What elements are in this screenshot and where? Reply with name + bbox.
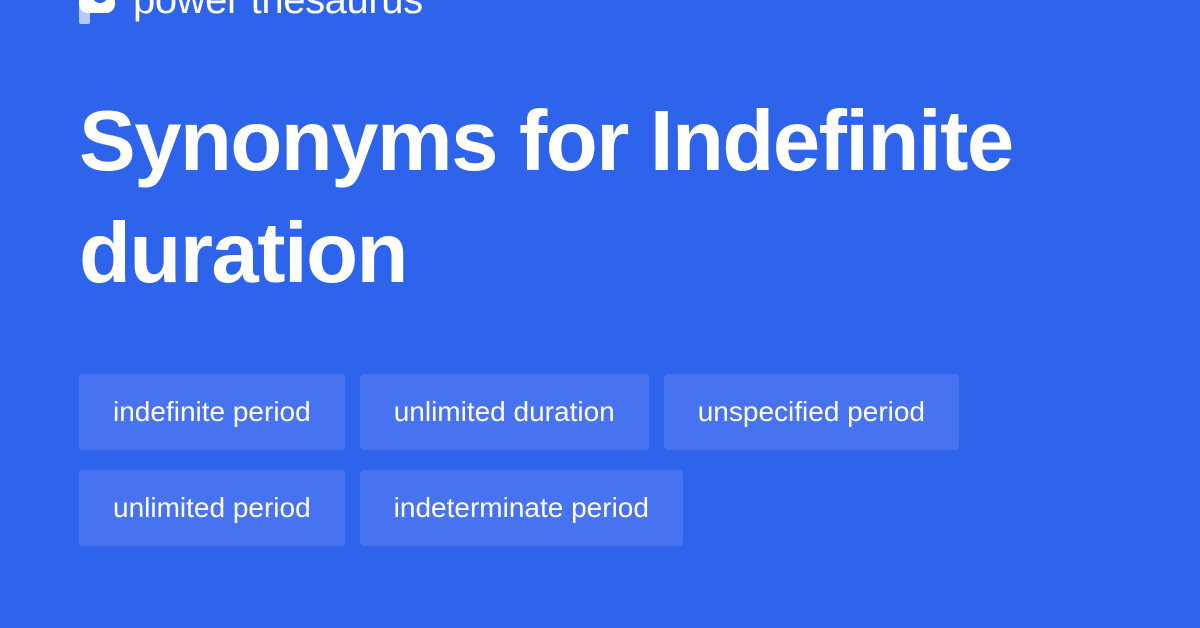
brand-header[interactable]: power thesaurus: [79, 0, 423, 24]
synonym-chip[interactable]: indefinite period: [79, 374, 345, 450]
synonym-chip-list: indefinite period unlimited duration uns…: [79, 374, 1119, 546]
brand-name: power thesaurus: [133, 0, 423, 24]
page-title-line-1: Synonyms for Indefinite: [79, 94, 1013, 189]
power-thesaurus-logo-icon: [79, 0, 115, 24]
synonym-chip[interactable]: indeterminate period: [360, 470, 683, 546]
synonym-chip[interactable]: unlimited period: [79, 470, 345, 546]
synonym-chip[interactable]: unlimited duration: [360, 374, 649, 450]
page-title: Synonyms for Indefinite duration: [79, 86, 1039, 310]
synonym-chip[interactable]: unspecified period: [664, 374, 959, 450]
page-title-line-2: duration: [79, 206, 407, 301]
synonyms-share-card: power thesaurus Synonyms for Indefinite …: [0, 0, 1200, 628]
